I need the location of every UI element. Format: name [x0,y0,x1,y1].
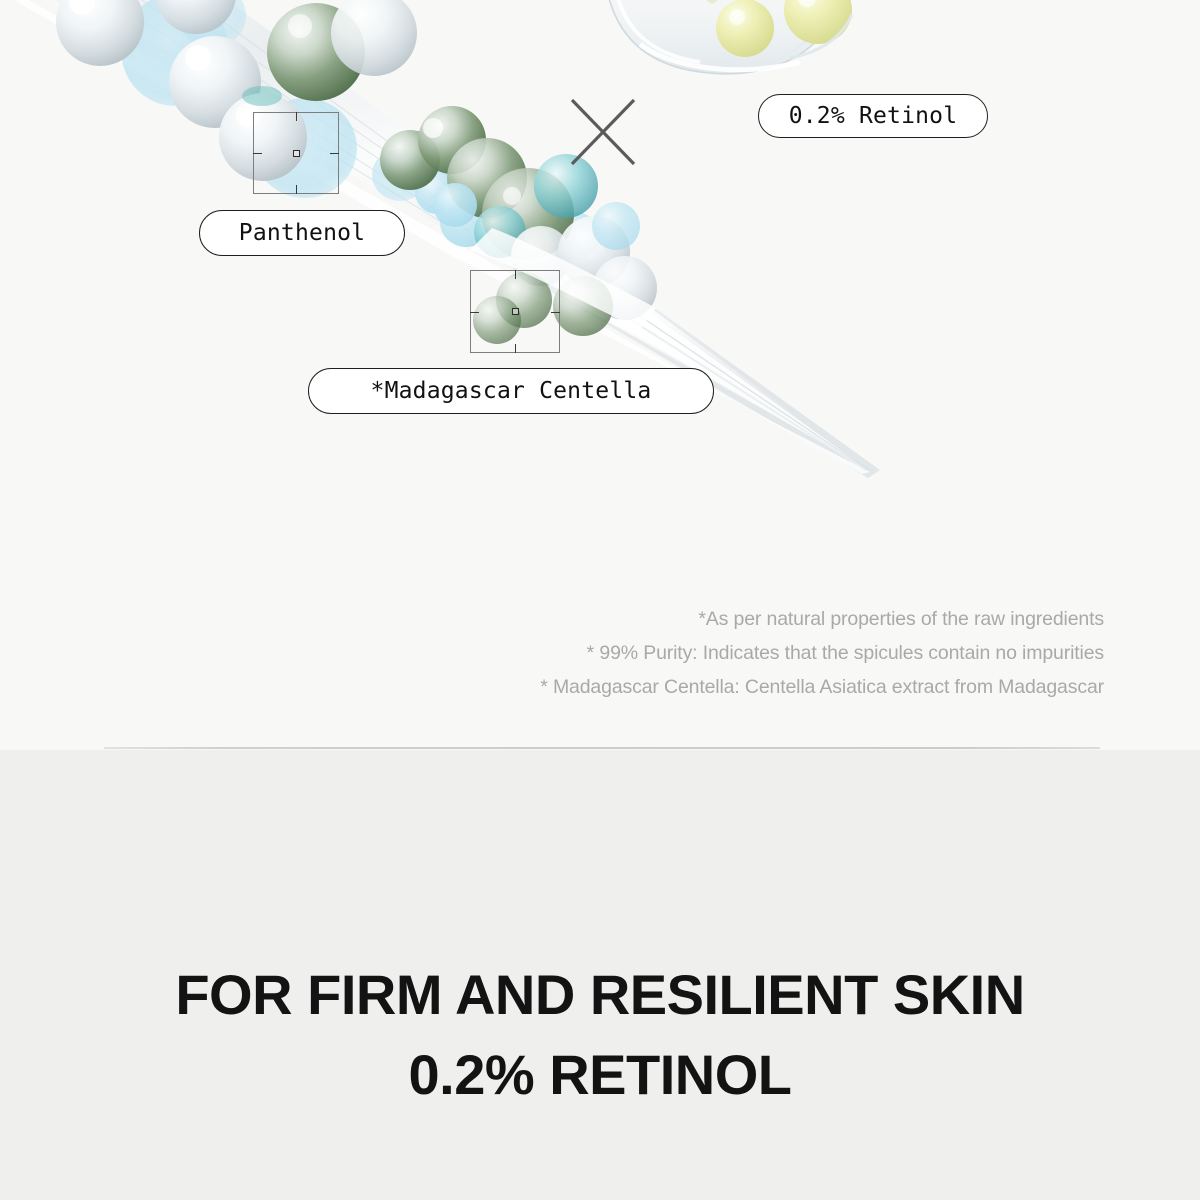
tick-bottom-icon [296,185,297,194]
headline-line-1: FOR FIRM AND RESILIENT SKIN [0,955,1200,1035]
ingredient-label-panthenol: Panthenol [199,210,405,256]
tick-top-icon [296,112,297,121]
center-dot-icon [512,308,519,315]
footnote-line-2: * 99% Purity: Indicates that the spicule… [0,636,1104,670]
footnote-line-1: *As per natural properties of the raw in… [0,602,1104,636]
selection-marker-panthenol [253,112,339,194]
tick-left-icon [253,153,262,154]
glass-bowl-cluster [604,0,852,74]
ingredient-label-retinol: 0.2% Retinol [758,94,988,138]
footnotes-block: *As per natural properties of the raw in… [0,602,1104,704]
tick-left-icon [470,312,479,313]
product-detail-page: 0.2% Retinol Panthenol *Madagascar Cente… [0,0,1200,1200]
times-icon [568,96,638,168]
tick-top-icon [515,270,516,279]
center-dot-icon [293,150,300,157]
page-title: FOR FIRM AND RESILIENT SKIN 0.2% RETINOL [0,955,1200,1115]
section-divider [104,747,1100,749]
hero-section: 0.2% Retinol Panthenol *Madagascar Cente… [0,0,1200,750]
tick-right-icon [330,153,339,154]
ingredient-label-madagascar-centella: *Madagascar Centella [308,368,714,414]
selection-marker-centella [470,270,560,353]
tick-bottom-icon [515,344,516,353]
headline-line-2: 0.2% RETINOL [0,1035,1200,1115]
footnote-line-3: * Madagascar Centella: Centella Asiatica… [0,670,1104,704]
tick-right-icon [551,312,560,313]
